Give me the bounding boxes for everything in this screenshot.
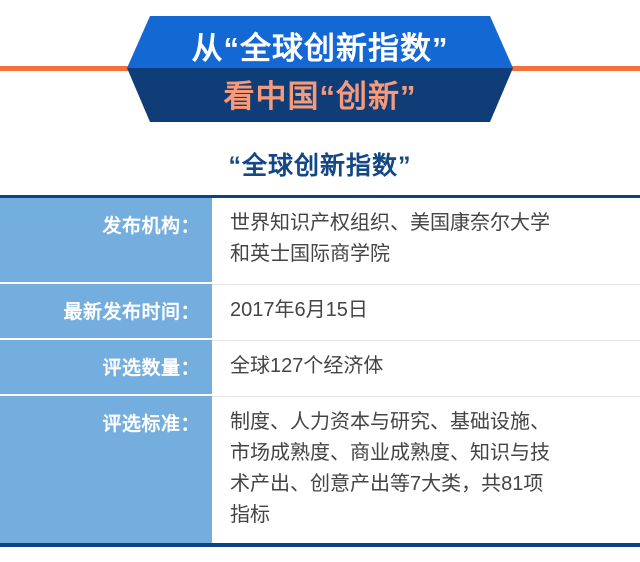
- row-value: 全球127个经济体: [212, 340, 640, 394]
- row-label: 评选标准：: [0, 396, 212, 543]
- table-row: 评选标准： 制度、人力资本与研究、基础设施、 市场成熟度、商业成熟度、知识与技 …: [0, 394, 640, 543]
- row-value-line: 制度、人力资本与研究、基础设施、: [230, 407, 628, 438]
- banner-bottom-half: [127, 68, 513, 122]
- table-row: 评选数量： 全球127个经济体: [0, 338, 640, 394]
- row-value-line: 术产出、创意产出等7大类，共81项: [230, 469, 628, 500]
- row-value-line: 2017年6月15日: [230, 295, 628, 326]
- row-value-line: 市场成熟度、商业成熟度、知识与技: [230, 438, 628, 469]
- row-value: 制度、人力资本与研究、基础设施、 市场成熟度、商业成熟度、知识与技 术产出、创意…: [212, 396, 640, 543]
- table-row: 最新发布时间： 2017年6月15日: [0, 282, 640, 338]
- row-value-line: 全球127个经济体: [230, 351, 628, 382]
- row-value-line: 指标: [230, 500, 628, 531]
- banner-top-half: [127, 16, 513, 68]
- info-table: 发布机构： 世界知识产权组织、美国康奈尔大学 和英士国际商学院 最新发布时间： …: [0, 195, 640, 547]
- title-banner: 从“全球创新指数” 看中国“创新”: [0, 0, 640, 130]
- row-label: 发布机构：: [0, 198, 212, 282]
- banner-hexagon-shape: [0, 0, 640, 130]
- table-row: 发布机构： 世界知识产权组织、美国康奈尔大学 和英士国际商学院: [0, 198, 640, 282]
- page-subtitle: “全球创新指数”: [0, 146, 640, 182]
- row-label: 评选数量：: [0, 340, 212, 394]
- row-label: 最新发布时间：: [0, 284, 212, 338]
- row-value: 世界知识产权组织、美国康奈尔大学 和英士国际商学院: [212, 198, 640, 282]
- row-value: 2017年6月15日: [212, 284, 640, 338]
- row-value-line: 和英士国际商学院: [230, 239, 628, 270]
- row-value-line: 世界知识产权组织、美国康奈尔大学: [230, 208, 628, 239]
